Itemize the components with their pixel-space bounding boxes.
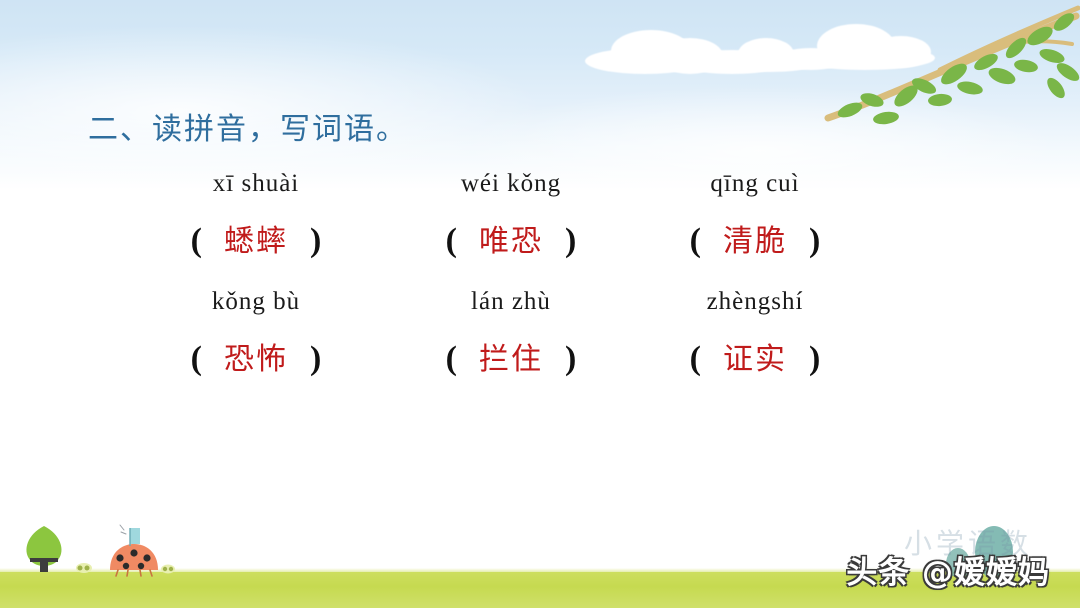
- small-bush-icon: [161, 565, 175, 574]
- pinyin-text: lán zhù: [471, 288, 551, 316]
- bracket-open: (: [191, 222, 202, 260]
- answer-word[interactable]: 唯恐: [479, 216, 543, 260]
- orange-ladybug-icon: [110, 525, 158, 576]
- answer-cell[interactable]: ( 清脆 ): [630, 216, 880, 260]
- page-title: 二、读拼音，写词语。: [88, 104, 408, 148]
- pinyin-row: kǒng bù lán zhù zhèngshí: [120, 288, 880, 334]
- pinyin-cell: kǒng bù: [120, 288, 392, 316]
- scenery-left: [14, 518, 184, 578]
- worksheet-slide: 二、读拼音，写词语。 xī shuài wéi kǒng qīng cuì ( …: [0, 0, 1080, 608]
- pinyin-cell: lán zhù: [392, 288, 630, 316]
- answer-word[interactable]: 清脆: [723, 216, 787, 260]
- pinyin-cell: qīng cuì: [630, 170, 880, 198]
- pinyin-text: xī shuài: [213, 170, 299, 198]
- answer-cell[interactable]: ( 蟋蟀 ): [120, 216, 392, 260]
- pinyin-text: wéi kǒng: [461, 170, 561, 198]
- bracket-open: (: [446, 340, 457, 378]
- answer-word[interactable]: 恐怖: [224, 334, 288, 378]
- pinyin-cell: zhèngshí: [630, 288, 880, 316]
- answer-cell[interactable]: ( 恐怖 ): [120, 334, 392, 378]
- small-bush-icon: [76, 563, 92, 573]
- answer-word[interactable]: 蟋蟀: [224, 216, 288, 260]
- bracket-close: ): [809, 340, 820, 378]
- bracket-close: ): [310, 222, 321, 260]
- bracket-open: (: [446, 222, 457, 260]
- pinyin-cell: xī shuài: [120, 170, 392, 198]
- exercise-board: xī shuài wéi kǒng qīng cuì ( 蟋蟀 ) ( 唯恐 ): [120, 170, 880, 406]
- bracket-open: (: [690, 222, 701, 260]
- bracket-close: ): [809, 222, 820, 260]
- answer-word[interactable]: 拦住: [479, 334, 543, 378]
- leafy-branch-icon: [820, 0, 1080, 130]
- bracket-open: (: [690, 340, 701, 378]
- answer-cell[interactable]: ( 唯恐 ): [392, 216, 630, 260]
- pinyin-text: qīng cuì: [710, 170, 799, 198]
- answer-word[interactable]: 证实: [723, 334, 787, 378]
- bracket-close: ): [565, 340, 576, 378]
- bracket-close: ): [565, 222, 576, 260]
- bracket-open: (: [191, 340, 202, 378]
- pinyin-cell: wéi kǒng: [392, 170, 630, 198]
- pinyin-text: zhèngshí: [707, 288, 804, 316]
- watermark-text: 头条 @嫒嫒妈: [846, 547, 1050, 592]
- pinyin-text: kǒng bù: [212, 288, 300, 316]
- answer-row: ( 蟋蟀 ) ( 唯恐 ) ( 清脆 ): [120, 216, 880, 288]
- pinyin-row: xī shuài wéi kǒng qīng cuì: [120, 170, 880, 216]
- answer-cell[interactable]: ( 证实 ): [630, 334, 880, 378]
- green-tree-icon: [26, 526, 61, 572]
- answer-row: ( 恐怖 ) ( 拦住 ) ( 证实 ): [120, 334, 880, 406]
- answer-cell[interactable]: ( 拦住 ): [392, 334, 630, 378]
- bracket-close: ): [310, 340, 321, 378]
